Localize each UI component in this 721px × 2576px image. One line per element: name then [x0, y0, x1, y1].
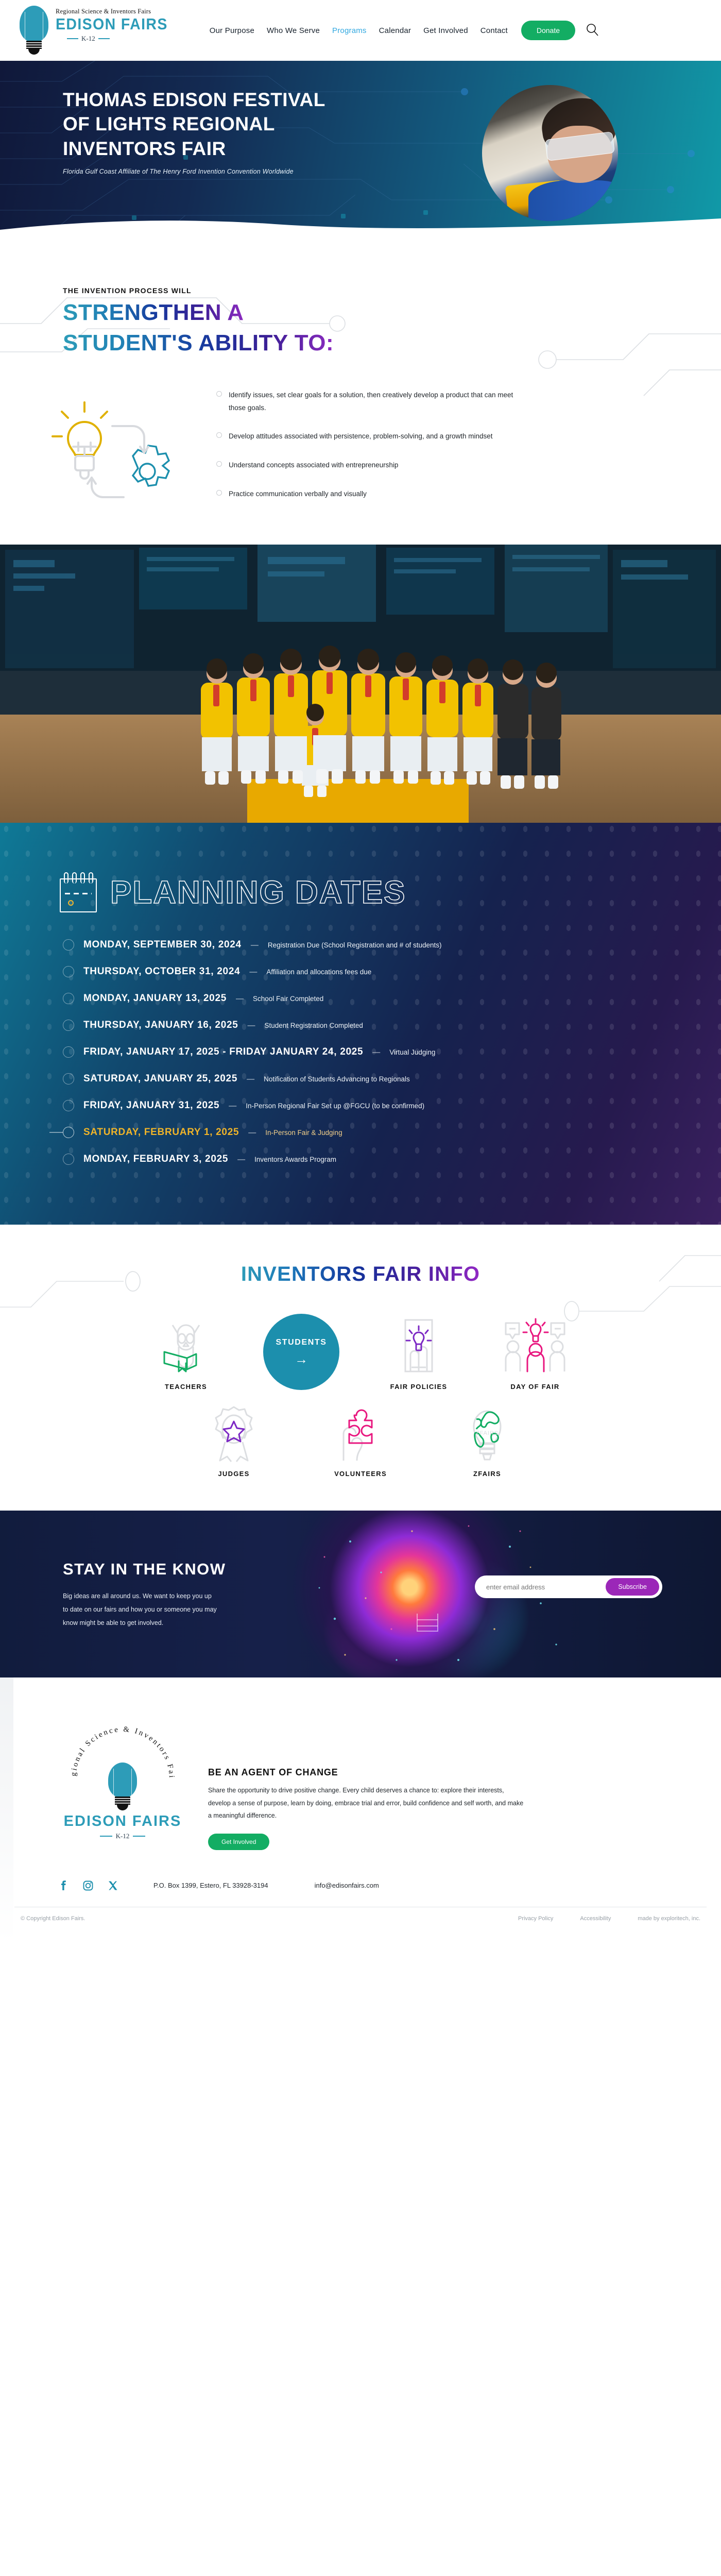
students-label: STUDENTS [276, 1338, 327, 1347]
bullet-text: Develop attitudes associated with persis… [229, 430, 493, 443]
get-involved-button[interactable]: Get Involved [208, 1834, 269, 1850]
footer-logo-grade: K-12 [58, 1832, 187, 1840]
logo-subtitle: Regional Science & Inventors Fairs [56, 8, 178, 15]
bullet-dot-icon [216, 461, 222, 467]
table-row: THURSDAY, OCTOBER 31, 2024 — Affiliation… [63, 966, 721, 977]
date-description: Student Registration Completed [265, 1022, 363, 1029]
tile-teachers[interactable]: TEACHERS [147, 1318, 225, 1391]
lightbulb-gear-cycle-icon [0, 386, 216, 507]
timeline-dot-icon [63, 1127, 74, 1138]
privacy-policy-link[interactable]: Privacy Policy [518, 1916, 553, 1922]
date-description: In-Person Regional Fair Set up @FGCU (to… [246, 1102, 424, 1110]
date-separator: — [251, 941, 259, 950]
footer-contact-row: P.O. Box 1399, Estero, FL 33928-3194 inf… [58, 1850, 721, 1891]
list-item: Identify issues, set clear goals for a s… [216, 389, 659, 415]
process-headline-line-1: STRENGTHEN A [63, 300, 244, 325]
planning-dates-title: PLANNING DATES [110, 874, 406, 911]
people-with-idea-icon [496, 1318, 574, 1376]
list-item: Develop attitudes associated with persis… [216, 430, 659, 443]
logo-grade: K-12 [56, 35, 178, 43]
x-twitter-icon[interactable] [107, 1880, 118, 1891]
process-eyebrow: THE INVENTION PROCESS WILL [63, 286, 721, 295]
site-logo[interactable]: Regional Science & Inventors Fairs EDISO… [18, 6, 178, 55]
hand-holding-lightbulb-icon [380, 1318, 458, 1376]
hero-title: THOMAS EDISON FESTIVAL OF LIGHTS REGIONA… [63, 88, 351, 161]
date-separator: — [248, 1021, 255, 1030]
hero-banner: THOMAS EDISON FESTIVAL OF LIGHTS REGIONA… [0, 61, 721, 241]
table-row-highlighted: SATURDAY, FEBRUARY 1, 2025 — In-Person F… [63, 1127, 721, 1138]
date-description: Virtual Judging [389, 1048, 435, 1056]
email-input[interactable] [486, 1583, 606, 1591]
date-description: Inventors Awards Program [254, 1156, 336, 1163]
inventors-fair-info-section: INVENTORS FAIR INFO [0, 1225, 721, 1511]
donate-button[interactable]: Donate [521, 21, 575, 40]
table-row: MONDAY, JANUARY 13, 2025 — School Fair C… [63, 993, 721, 1004]
page-title: INVENTORS FAIR INFO [241, 1263, 480, 1286]
list-item: Practice communication verbally and visu… [216, 488, 659, 501]
date-label: SATURDAY, JANUARY 25, 2025 [83, 1073, 237, 1084]
tile-label: VOLUNTEERS [321, 1470, 400, 1478]
bullet-dot-icon [216, 490, 222, 496]
date-description: School Fair Completed [253, 995, 323, 1003]
timeline-dot-icon [63, 1020, 74, 1031]
tile-day-of-fair[interactable]: DAY OF FAIR [496, 1318, 574, 1391]
timeline-dot-icon [63, 1100, 74, 1111]
owl-book-icon [147, 1318, 225, 1376]
footer-accent-bar [0, 1677, 13, 1942]
bullet-text: Understand concepts associated with entr… [229, 459, 398, 472]
date-description: Affiliation and allocations fees due [266, 968, 371, 976]
date-label: MONDAY, FEBRUARY 3, 2025 [83, 1154, 228, 1165]
date-description: In-Person Fair & Judging [265, 1129, 342, 1137]
invention-process-section: THE INVENTION PROCESS WILL STRENGTHEN A … [0, 241, 721, 545]
tile-label: DAY OF FAIR [496, 1383, 574, 1391]
puzzle-piece-icon [321, 1405, 400, 1463]
lightbulb-circuit-logo-icon [18, 6, 50, 55]
agent-body: Share the opportunity to drive positive … [208, 1784, 527, 1822]
footer-links: Privacy Policy Accessibility made by exp… [518, 1916, 700, 1922]
made-by-link[interactable]: made by exploritech, inc. [638, 1916, 700, 1922]
list-item: Understand concepts associated with entr… [216, 459, 659, 472]
timeline-dot-icon [63, 939, 74, 951]
process-bullet-list: Identify issues, set clear goals for a s… [216, 386, 721, 517]
footer-email[interactable]: info@edisonfairs.com [315, 1882, 379, 1889]
instagram-icon[interactable] [82, 1880, 94, 1891]
hero-title-line-3: INVENTORS FAIR [63, 138, 226, 159]
date-label: FRIDAY, JANUARY 31, 2025 [83, 1100, 219, 1111]
date-separator: — [247, 1075, 254, 1083]
search-icon[interactable] [586, 23, 599, 39]
timeline-dot-icon [63, 1046, 74, 1058]
copyright-text: © Copyright Edison Fairs. [21, 1916, 85, 1922]
globe-lightbulb-icon: ZFAIRS [448, 1405, 526, 1463]
facebook-icon[interactable] [58, 1880, 69, 1891]
timeline-dot-icon [63, 966, 74, 977]
nav-item-our-purpose[interactable]: Our Purpose [210, 26, 254, 35]
date-separator: — [237, 1155, 245, 1164]
hero-tagline: Florida Gulf Coast Affiliate of The Henr… [63, 168, 721, 175]
students-circle-button[interactable]: STUDENTS → [263, 1314, 339, 1390]
date-description: Notification of Students Advancing to Re… [264, 1075, 410, 1083]
tile-judges[interactable]: JUDGES [195, 1405, 273, 1478]
date-label: THURSDAY, JANUARY 16, 2025 [83, 1020, 238, 1031]
tile-students[interactable]: STUDENTS → [263, 1318, 341, 1390]
nav-item-who-we-serve[interactable]: Who We Serve [267, 26, 320, 35]
footer-logo-wordmark: EDISON FAIRS [58, 1813, 187, 1830]
newsletter-section: STAY IN THE KNOW Big ideas are all aroun… [0, 1511, 721, 1677]
table-row: THURSDAY, JANUARY 16, 2025 — Student Reg… [63, 1020, 721, 1031]
table-row: MONDAY, FEBRUARY 3, 2025 — Inventors Awa… [63, 1154, 721, 1165]
table-row: SATURDAY, JANUARY 25, 2025 — Notificatio… [63, 1073, 721, 1084]
svg-text:ZFAIRS: ZFAIRS [476, 1430, 499, 1436]
planning-dates-list: MONDAY, SEPTEMBER 30, 2024 — Registratio… [0, 939, 721, 1165]
timeline-dot-icon [63, 993, 74, 1004]
award-ribbon-star-icon [195, 1405, 273, 1463]
be-an-agent-of-change-block: BE AN AGENT OF CHANGE Share the opportun… [187, 1711, 721, 1850]
nav-item-programs[interactable]: Programs [332, 26, 367, 35]
table-row: FRIDAY, JANUARY 17, 2025 - FRIDAY JANUAR… [63, 1046, 721, 1058]
process-headline: STRENGTHEN A STUDENT'S ABILITY TO: [63, 295, 721, 356]
date-description: Registration Due (School Registration an… [268, 941, 442, 949]
tile-label: JUDGES [195, 1470, 273, 1478]
logo-wordmark: EDISON FAIRS [56, 16, 168, 33]
tile-label: ZFAIRS [448, 1470, 526, 1478]
site-header: Regional Science & Inventors Fairs EDISO… [0, 0, 721, 61]
bullet-text: Practice communication verbally and visu… [229, 488, 367, 501]
newsletter-subscribe-form: Subscribe [475, 1575, 662, 1598]
date-label: THURSDAY, OCTOBER 31, 2024 [83, 966, 240, 977]
hero-title-line-2: OF LIGHTS REGIONAL [63, 113, 275, 134]
accessibility-link[interactable]: Accessibility [580, 1916, 611, 1922]
date-label: FRIDAY, JANUARY 17, 2025 - FRIDAY JANUAR… [83, 1046, 363, 1058]
table-row: FRIDAY, JANUARY 31, 2025 — In-Person Reg… [63, 1100, 721, 1111]
date-separator: — [249, 968, 257, 976]
hero-bottom-wave [0, 214, 721, 241]
group-photo-illustration [0, 545, 721, 823]
date-separator: — [229, 1101, 236, 1110]
tile-label: TEACHERS [147, 1383, 225, 1391]
date-separator: — [372, 1048, 380, 1057]
date-label: MONDAY, JANUARY 13, 2025 [83, 993, 227, 1004]
process-headline-line-2: STUDENT'S ABILITY TO: [63, 330, 334, 355]
social-links [58, 1880, 118, 1891]
nav-item-contact[interactable]: Contact [480, 26, 508, 35]
planning-dates-section: PLANNING DATES MONDAY, SEPTEMBER 30, 202… [0, 823, 721, 1225]
timeline-dot-icon [63, 1154, 74, 1165]
agent-heading: BE AN AGENT OF CHANGE [208, 1767, 721, 1778]
students-group-photo [0, 545, 721, 823]
bullet-dot-icon [216, 391, 222, 397]
tile-label: FAIR POLICIES [380, 1383, 458, 1391]
calendar-icon [60, 872, 97, 912]
lightbulb-circuit-logo-icon [107, 1762, 139, 1810]
tile-zfairs[interactable]: ZFAIRS ZFAIRS [448, 1405, 526, 1478]
nav-item-get-involved[interactable]: Get Involved [423, 26, 468, 35]
main-navigation: Our Purpose Who We Serve Programs Calend… [210, 26, 508, 35]
date-label: MONDAY, SEPTEMBER 30, 2024 [83, 939, 242, 951]
date-label: SATURDAY, FEBRUARY 1, 2025 [83, 1127, 239, 1138]
nav-item-calendar[interactable]: Calendar [379, 26, 411, 35]
footer-logo-seal: Regional Science & Inventors Fairs EDISO… [58, 1711, 187, 1840]
bullet-text: Identify issues, set clear goals for a s… [229, 389, 517, 415]
subscribe-button[interactable]: Subscribe [606, 1578, 659, 1596]
timeline-dot-icon [63, 1073, 74, 1084]
bullet-dot-icon [216, 432, 222, 438]
date-separator: — [248, 1128, 256, 1137]
tile-fair-policies[interactable]: FAIR POLICIES [380, 1318, 458, 1391]
tile-volunteers[interactable]: VOLUNTEERS [321, 1405, 400, 1478]
hero-title-line-1: THOMAS EDISON FESTIVAL [63, 89, 325, 110]
newsletter-body: Big ideas are all around us. We want to … [63, 1590, 217, 1630]
site-footer: Regional Science & Inventors Fairs EDISO… [0, 1677, 721, 1942]
newsletter-title: STAY IN THE KNOW [63, 1560, 269, 1579]
footer-address: P.O. Box 1399, Estero, FL 33928-3194 [153, 1882, 268, 1889]
arrow-right-icon: → [295, 1352, 308, 1366]
date-separator: — [236, 994, 244, 1003]
hero-photo [482, 85, 618, 221]
table-row: MONDAY, SEPTEMBER 30, 2024 — Registratio… [63, 939, 721, 951]
